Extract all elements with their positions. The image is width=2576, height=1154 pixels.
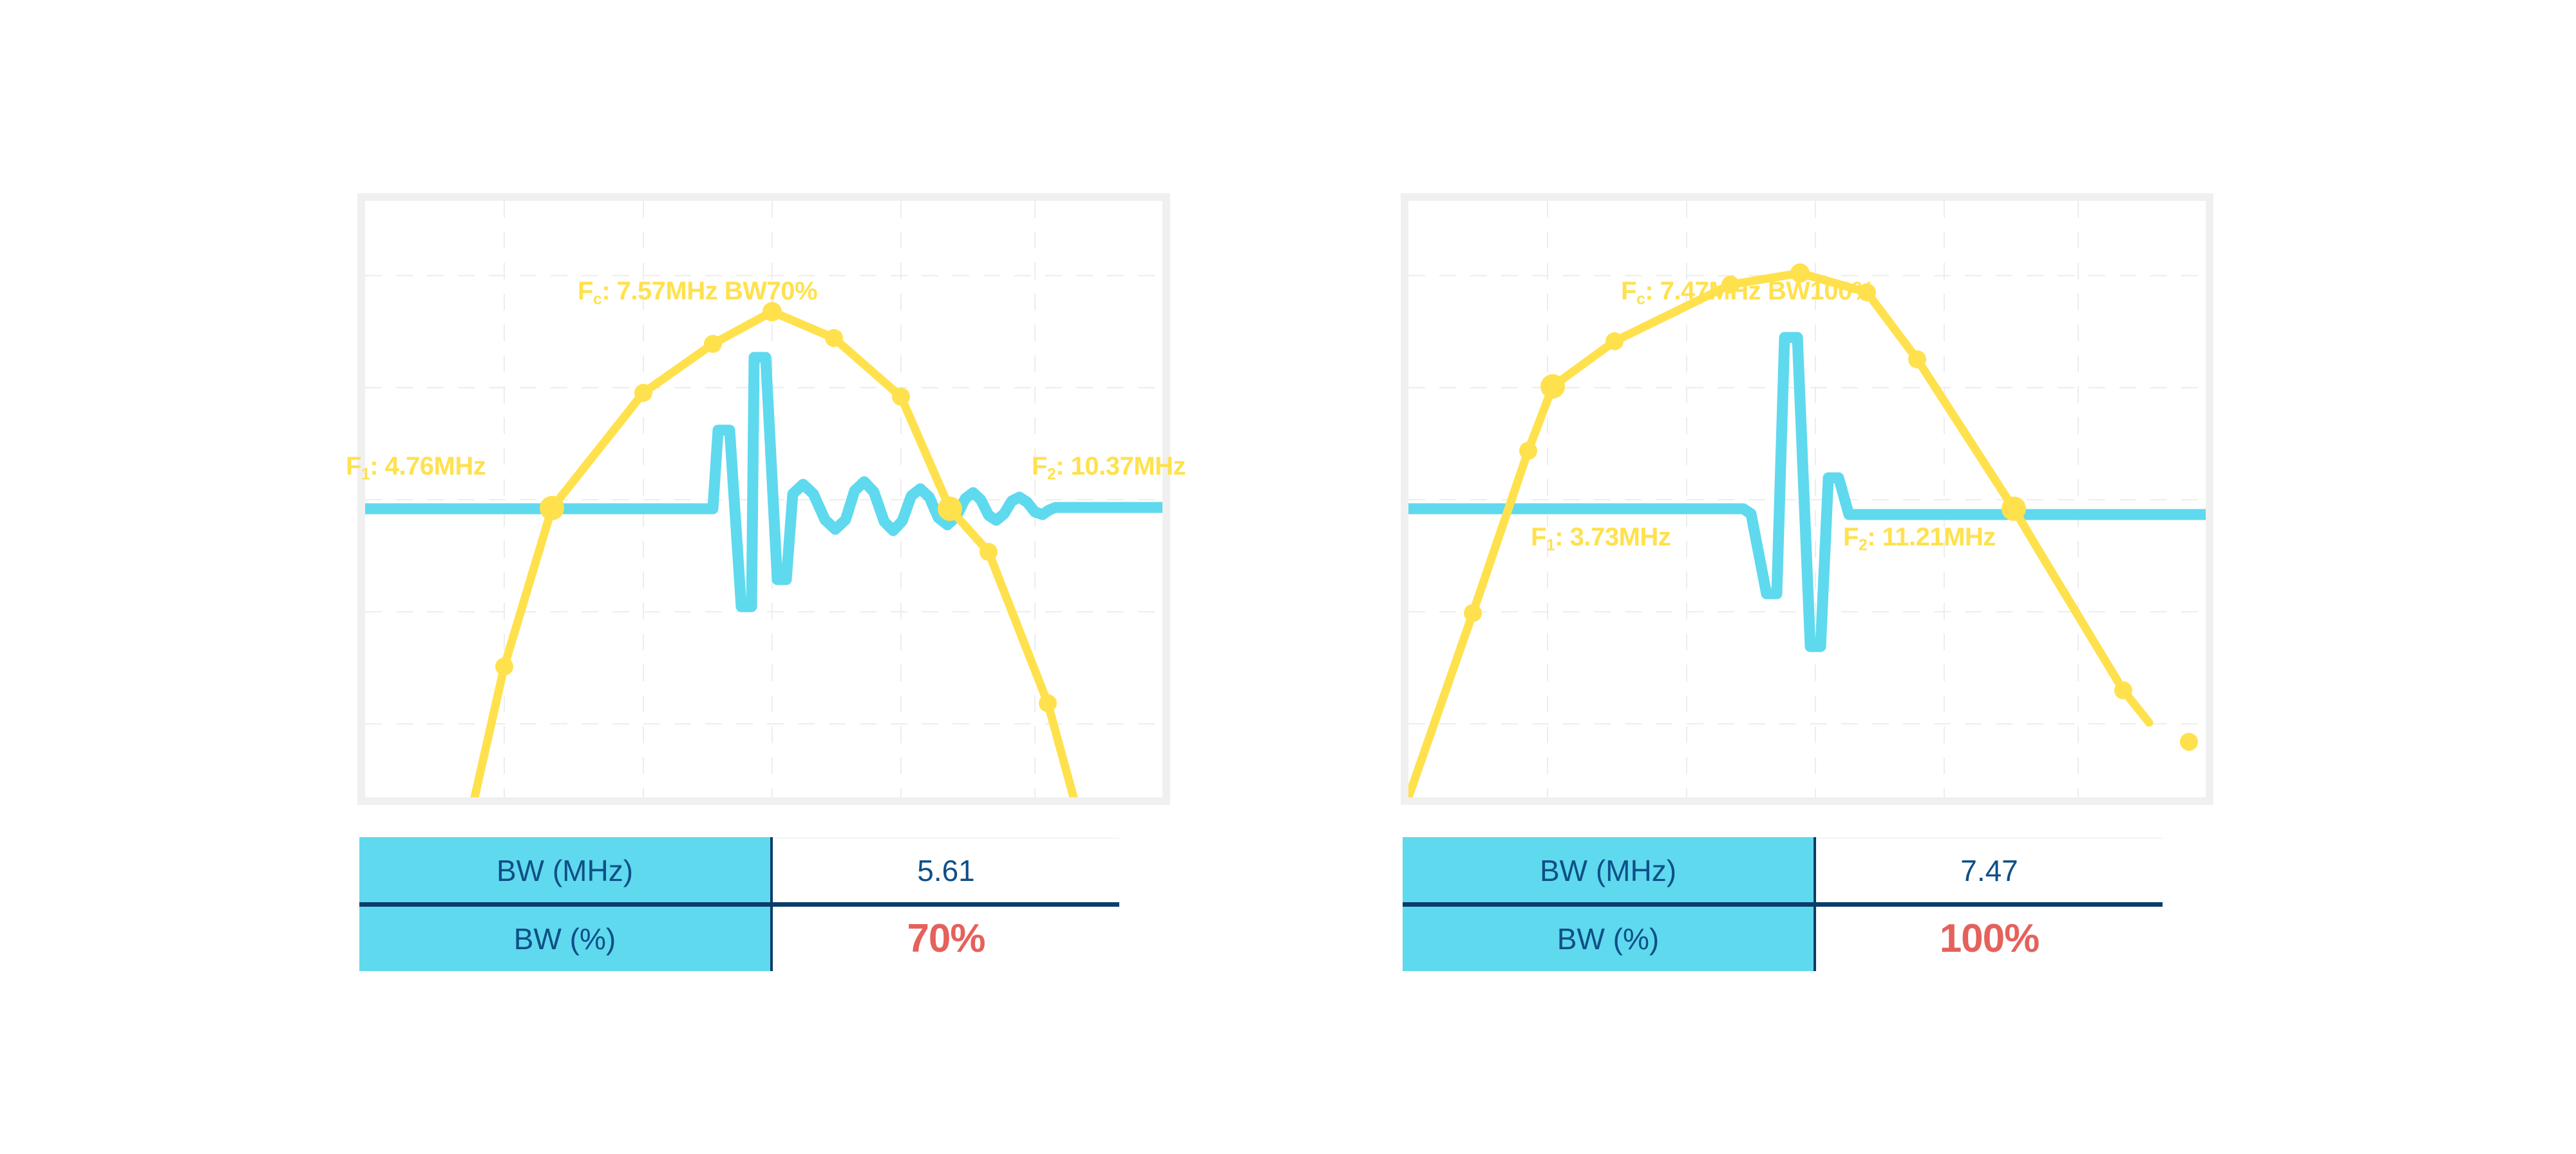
annotation-f1-symbol: F1 [346,452,370,480]
annotation-f2-text: : 11.21MHz [1867,523,1996,551]
bw-mhz-label: BW (MHz) [359,838,772,905]
annotation-f2-right: F2: 11.21MHz [1843,523,1996,554]
panel-left: Fc: 7.57MHz BW70% F1: 4.76MHz F2: 10.37M… [283,0,1185,1154]
annotation-fc-text: : 7.47MHz BW100% [1645,277,1875,305]
annotation-f1-subscript: 1 [361,466,370,483]
chart-frame-left: Fc: 7.57MHz BW70% F1: 4.76MHz F2: 10.37M… [357,193,1170,805]
annotation-f2-subscript: 2 [1859,536,1867,554]
annotation-fc-subscript: c [593,290,601,308]
annotation-f1-left: F1: 4.76MHz [346,452,486,484]
page-root: Fc: 7.57MHz BW70% F1: 4.76MHz F2: 10.37M… [0,0,2576,1154]
annotation-fc-text: : 7.57MHz BW70% [601,277,817,305]
table-row: BW (%) 100% [1403,905,2163,971]
table-row: BW (MHz) 5.61 [359,838,1119,905]
bw-percent-value: 70% [772,905,1119,971]
bw-mhz-value: 5.61 [772,838,1119,905]
chart-frame-right: Fc: 7.47MHz BW100% F1: 3.73MHz F2: 11.21… [1401,193,2213,805]
annotation-f1-symbol: F1 [1531,523,1555,551]
annotation-fc-symbol: Fc [1621,277,1645,305]
annotation-f2-subscript: 2 [1047,466,1056,483]
annotation-fc-symbol: Fc [578,277,601,305]
annotation-f2-symbol: F2 [1032,452,1056,480]
bw-percent-value: 100% [1815,905,2163,971]
annotation-f2-left: F2: 10.37MHz [1032,452,1186,484]
bw-percent-label: BW (%) [359,905,772,971]
table-row: BW (%) 70% [359,905,1119,971]
annotation-f1-text: : 4.76MHz [370,452,486,480]
panel-right: Fc: 7.47MHz BW100% F1: 3.73MHz F2: 11.21… [1327,0,2228,1154]
table-row: BW (MHz) 7.47 [1403,838,2163,905]
annotation-f2-symbol: F2 [1843,523,1867,551]
annotation-f1-text: : 3.73MHz [1555,523,1671,551]
annotation-center-frequency-left: Fc: 7.57MHz BW70% [578,277,817,308]
bw-percent-label: BW (%) [1403,905,1815,971]
annotation-center-frequency-right: Fc: 7.47MHz BW100% [1621,277,1875,308]
annotation-f1-right: F1: 3.73MHz [1531,523,1671,554]
bandwidth-table-left: BW (MHz) 5.61 BW (%) 70% [359,837,1119,971]
annotation-f2-text: : 10.37MHz [1056,452,1186,480]
bw-mhz-label: BW (MHz) [1403,838,1815,905]
bandwidth-table-right: BW (MHz) 7.47 BW (%) 100% [1403,837,2163,971]
annotation-fc-subscript: c [1636,290,1645,308]
annotation-f1-subscript: 1 [1546,536,1555,554]
bw-mhz-value: 7.47 [1815,838,2163,905]
pulse-waveform-right [1408,337,2206,647]
